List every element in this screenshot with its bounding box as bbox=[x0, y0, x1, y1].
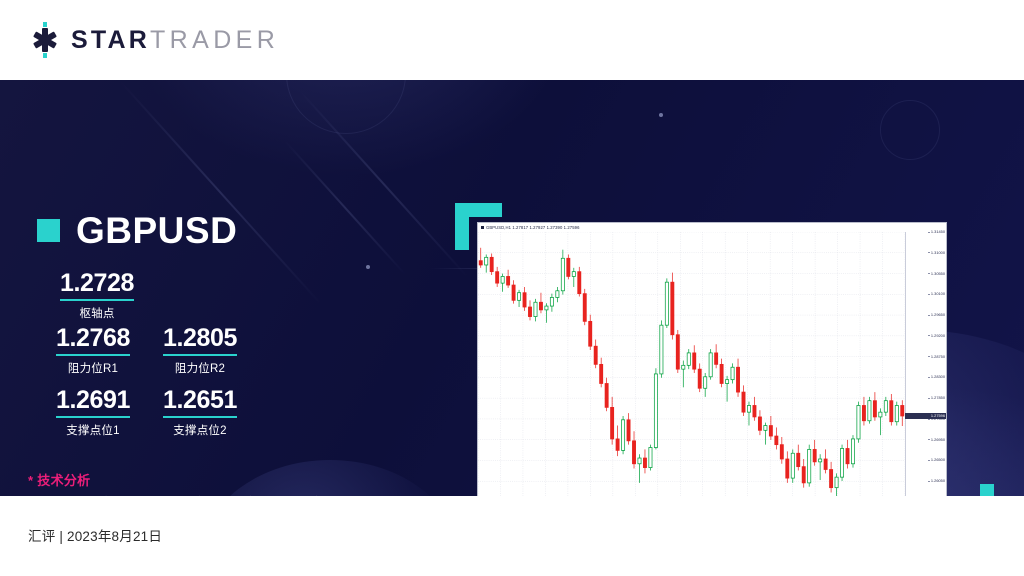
level-r2-value: 1.2805 bbox=[163, 325, 237, 356]
level-support-1: 1.2691 支撑点位1 bbox=[33, 387, 153, 438]
price-tick-label: 1.30100 bbox=[931, 292, 945, 296]
brand-name-star: STAR bbox=[71, 26, 150, 54]
level-resistance-1: 1.2768 阻力位R1 bbox=[33, 325, 153, 376]
main-panel: GBPUSD 1.2728 枢轴点 1.2768 阻力位R1 1.2805 阻力… bbox=[0, 80, 1024, 496]
price-chart[interactable]: GBPUSD,H1 1.27817 1.27927 1.27390 1.2759… bbox=[477, 222, 947, 496]
price-tick-label: 1.29650 bbox=[931, 313, 945, 317]
current-price-label: 1.27596 bbox=[905, 413, 946, 419]
candlestick-series bbox=[478, 232, 905, 496]
price-tick-label: 1.26050 bbox=[931, 479, 945, 483]
price-tick-label: 1.27850 bbox=[931, 396, 945, 400]
corner-bracket-top-left-vertical bbox=[455, 203, 469, 250]
level-s2-value: 1.2651 bbox=[163, 387, 237, 418]
level-pivot: 1.2728 枢轴点 bbox=[37, 270, 157, 321]
brand-logo: STARTRADER bbox=[28, 22, 279, 58]
price-tick-label: 1.28300 bbox=[931, 375, 945, 379]
level-r1-label: 阻力位R1 bbox=[33, 360, 153, 376]
level-pivot-value: 1.2728 bbox=[60, 270, 134, 301]
asterisk-star-logo-icon bbox=[28, 22, 62, 58]
chart-title-text: GBPUSD,H1 1.27817 1.27927 1.27390 1.2759… bbox=[486, 225, 580, 230]
decor-ring-top bbox=[286, 80, 406, 134]
level-r1-value: 1.2768 bbox=[56, 325, 130, 356]
accent-square-icon bbox=[37, 219, 60, 242]
analysis-title: * 技术分析 bbox=[28, 470, 393, 489]
brand-wordmark: STARTRADER bbox=[71, 28, 279, 53]
level-s1-value: 1.2691 bbox=[56, 387, 130, 418]
price-tick-label: 1.30550 bbox=[931, 272, 945, 276]
technical-analysis-block: * 技术分析 多头持仓在枢轴点以上，目标位为阻力位R1及阻力位R2。 若低于枢轴… bbox=[28, 470, 393, 496]
instrument-header: GBPUSD bbox=[37, 212, 237, 249]
level-s1-label: 支撑点位1 bbox=[33, 422, 153, 438]
price-tick-label: 1.31450 bbox=[931, 230, 945, 234]
chart-title-bar: GBPUSD,H1 1.27817 1.27927 1.27390 1.2759… bbox=[478, 223, 946, 232]
level-r2-label: 阻力位R2 bbox=[140, 360, 260, 376]
level-resistance-2: 1.2805 阻力位R2 bbox=[140, 325, 260, 376]
price-tick-label: 1.28750 bbox=[931, 355, 945, 359]
decor-dot-1 bbox=[366, 265, 370, 269]
page-header: STARTRADER bbox=[0, 0, 1024, 80]
decor-streak-2 bbox=[284, 140, 406, 275]
level-s2-label: 支撑点位2 bbox=[140, 422, 260, 438]
decor-dot-5 bbox=[659, 113, 663, 117]
price-tick-label: 1.26500 bbox=[931, 458, 945, 462]
price-tick-label: 1.26950 bbox=[931, 438, 945, 442]
price-tick-label: 1.29200 bbox=[931, 334, 945, 338]
decor-ring-small bbox=[880, 100, 940, 160]
brand-name-trader: TRADER bbox=[150, 26, 279, 54]
footer-caption: 汇评 | 2023年8月21日 bbox=[28, 525, 162, 545]
level-support-2: 1.2651 支撑点位2 bbox=[140, 387, 260, 438]
level-pivot-label: 枢轴点 bbox=[37, 305, 157, 321]
chart-price-axis: 1.314501.310001.305501.301001.296501.292… bbox=[905, 232, 946, 496]
chart-symbol-icon bbox=[481, 226, 484, 229]
page-footer: 汇评 | 2023年8月21日 bbox=[0, 496, 1024, 576]
chart-plot-area bbox=[478, 232, 905, 496]
price-tick-label: 1.31000 bbox=[931, 251, 945, 255]
decor-streak-1 bbox=[299, 90, 468, 277]
corner-bracket-bottom-right-vertical bbox=[980, 484, 994, 496]
page-title: GBPUSD bbox=[76, 212, 237, 249]
